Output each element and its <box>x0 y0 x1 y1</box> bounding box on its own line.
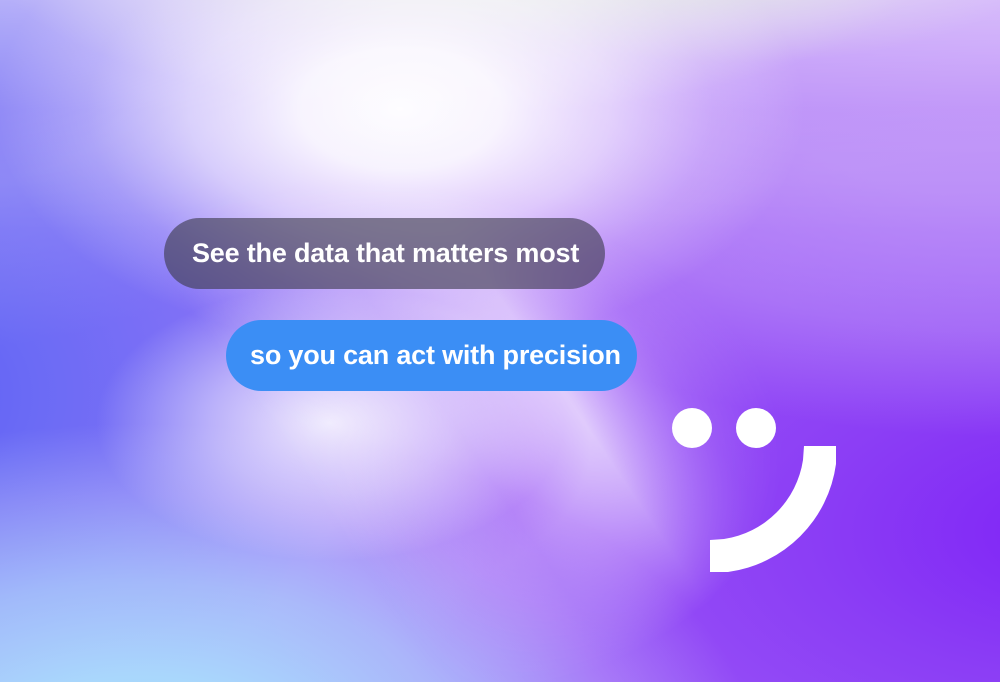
smiley-face-icon <box>660 398 860 588</box>
smiley-right-eye-icon <box>736 408 776 448</box>
hero-banner: See the data that matters most so you ca… <box>0 0 1000 682</box>
chat-bubble-incoming: See the data that matters most <box>164 218 605 289</box>
chat-bubble-outgoing: so you can act with precision <box>226 320 637 391</box>
chat-bubble-incoming-text: See the data that matters most <box>192 240 579 267</box>
chat-bubble-outgoing-text: so you can act with precision <box>250 342 621 369</box>
smiley-left-eye-icon <box>672 408 712 448</box>
smiley-mouth-icon <box>710 446 836 572</box>
